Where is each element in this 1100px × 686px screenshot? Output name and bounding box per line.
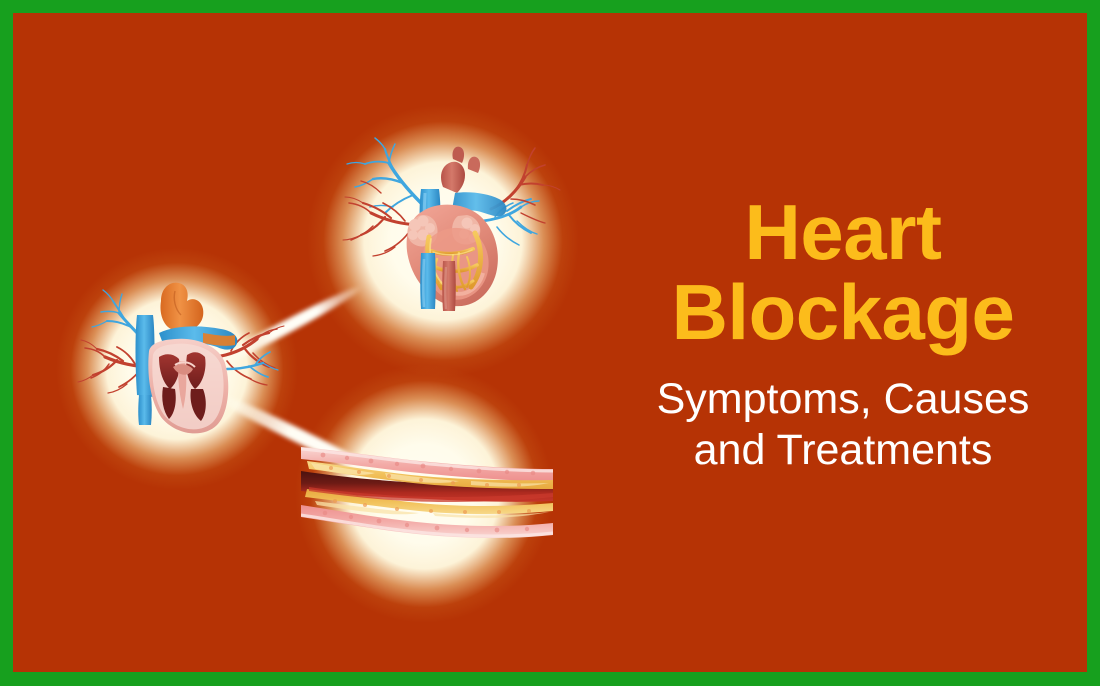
subtitle-line-2: and Treatments [613, 425, 1073, 476]
page-subtitle: Symptoms, Causes and Treatments [613, 374, 1073, 475]
aorta-arch-shape [441, 162, 465, 193]
page-title: Heart Blockage [613, 193, 1073, 352]
blocked-artery-illustration [301, 425, 553, 547]
title-line-2: Blockage [613, 273, 1073, 353]
subtitle-line-1: Symptoms, Causes [657, 375, 1030, 423]
headline-block: Heart Blockage Symptoms, Causes and Trea… [613, 193, 1073, 476]
heart-cross-section-illustration [75, 271, 287, 461]
title-line-1: Heart [745, 188, 942, 276]
whole-heart-illustration [325, 133, 565, 343]
heart-blockage-banner: Heart Blockage Symptoms, Causes and Trea… [0, 0, 1100, 686]
banner-content-area: Heart Blockage Symptoms, Causes and Trea… [13, 13, 1087, 672]
